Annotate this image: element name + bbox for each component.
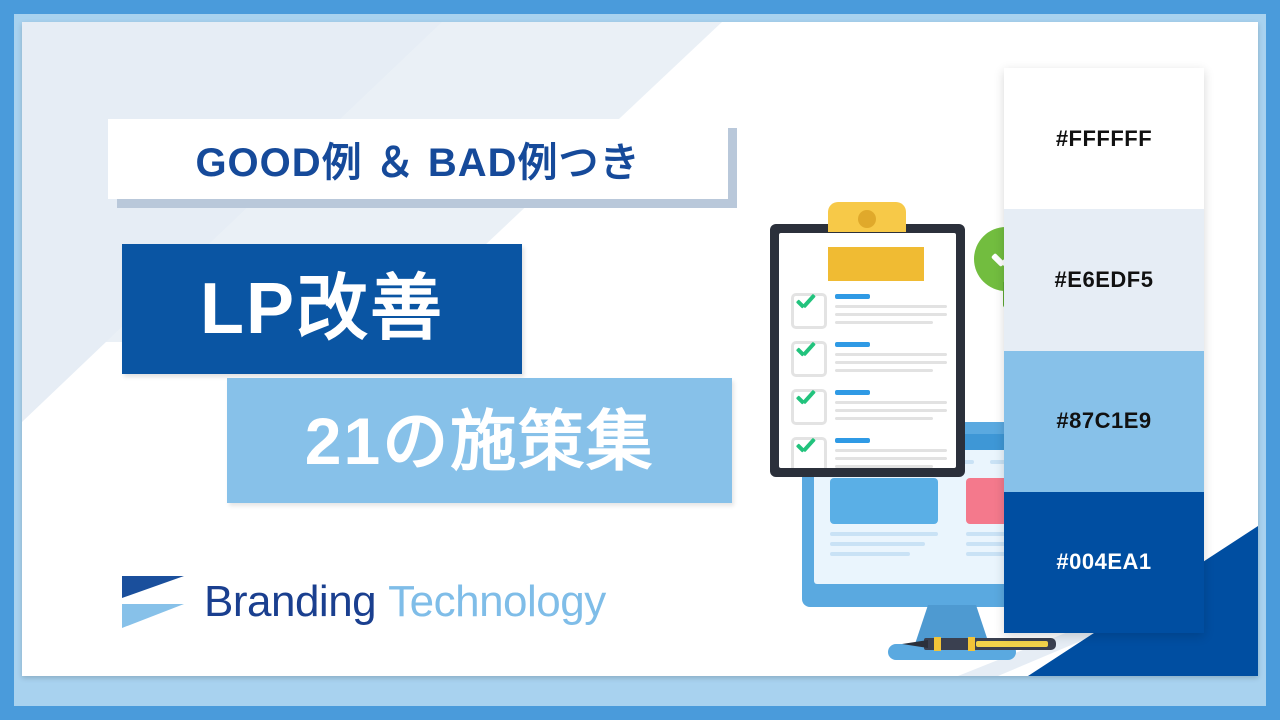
checklist-row — [779, 337, 956, 384]
checklist-row — [779, 289, 956, 336]
swatch-item[interactable]: #FFFFFF — [1004, 68, 1204, 209]
swatch-label: #004EA1 — [1056, 549, 1151, 575]
headline-secondary-text: 21の施策集 — [305, 408, 654, 474]
swatch-item[interactable]: #87C1E9 — [1004, 351, 1204, 492]
logo-word-branding: Branding — [204, 577, 376, 626]
swatch-item[interactable]: #004EA1 — [1004, 492, 1204, 633]
swatch-item[interactable]: #E6EDF5 — [1004, 209, 1204, 350]
headline-secondary-band: 21の施策集 — [227, 378, 732, 503]
swatch-label: #87C1E9 — [1056, 408, 1151, 434]
eyebrow-text: GOOD例 ＆ BAD例つき — [195, 130, 640, 188]
eyebrow-banner: GOOD例 ＆ BAD例つき — [108, 119, 728, 199]
color-swatch-panel: #FFFFFF #E6EDF5 #87C1E9 #004EA1 — [1004, 68, 1204, 633]
clipboard-clip-knob — [858, 210, 876, 228]
clipboard-icon — [770, 202, 965, 477]
headline-primary-text: LP改善 — [200, 273, 444, 345]
logo-arrows-icon — [122, 574, 186, 630]
checklist-row — [779, 433, 956, 468]
clipboard-paper — [779, 233, 956, 468]
logo-word-technology: Technology — [388, 577, 606, 626]
headline-primary-band: LP改善 — [122, 244, 522, 374]
swatch-label: #FFFFFF — [1056, 126, 1152, 152]
checklist-row — [779, 385, 956, 432]
logo-wordmark: BrandingTechnology — [204, 577, 606, 627]
swatch-label: #E6EDF5 — [1055, 267, 1154, 293]
brand-logo: BrandingTechnology — [122, 574, 606, 630]
slide-canvas: GOOD例 ＆ BAD例つき LP改善 21の施策集 BrandingTechn… — [0, 0, 1280, 720]
fountain-pen-icon — [902, 634, 1062, 654]
clipboard-clip-band — [828, 247, 924, 281]
clipboard-board — [770, 224, 965, 477]
